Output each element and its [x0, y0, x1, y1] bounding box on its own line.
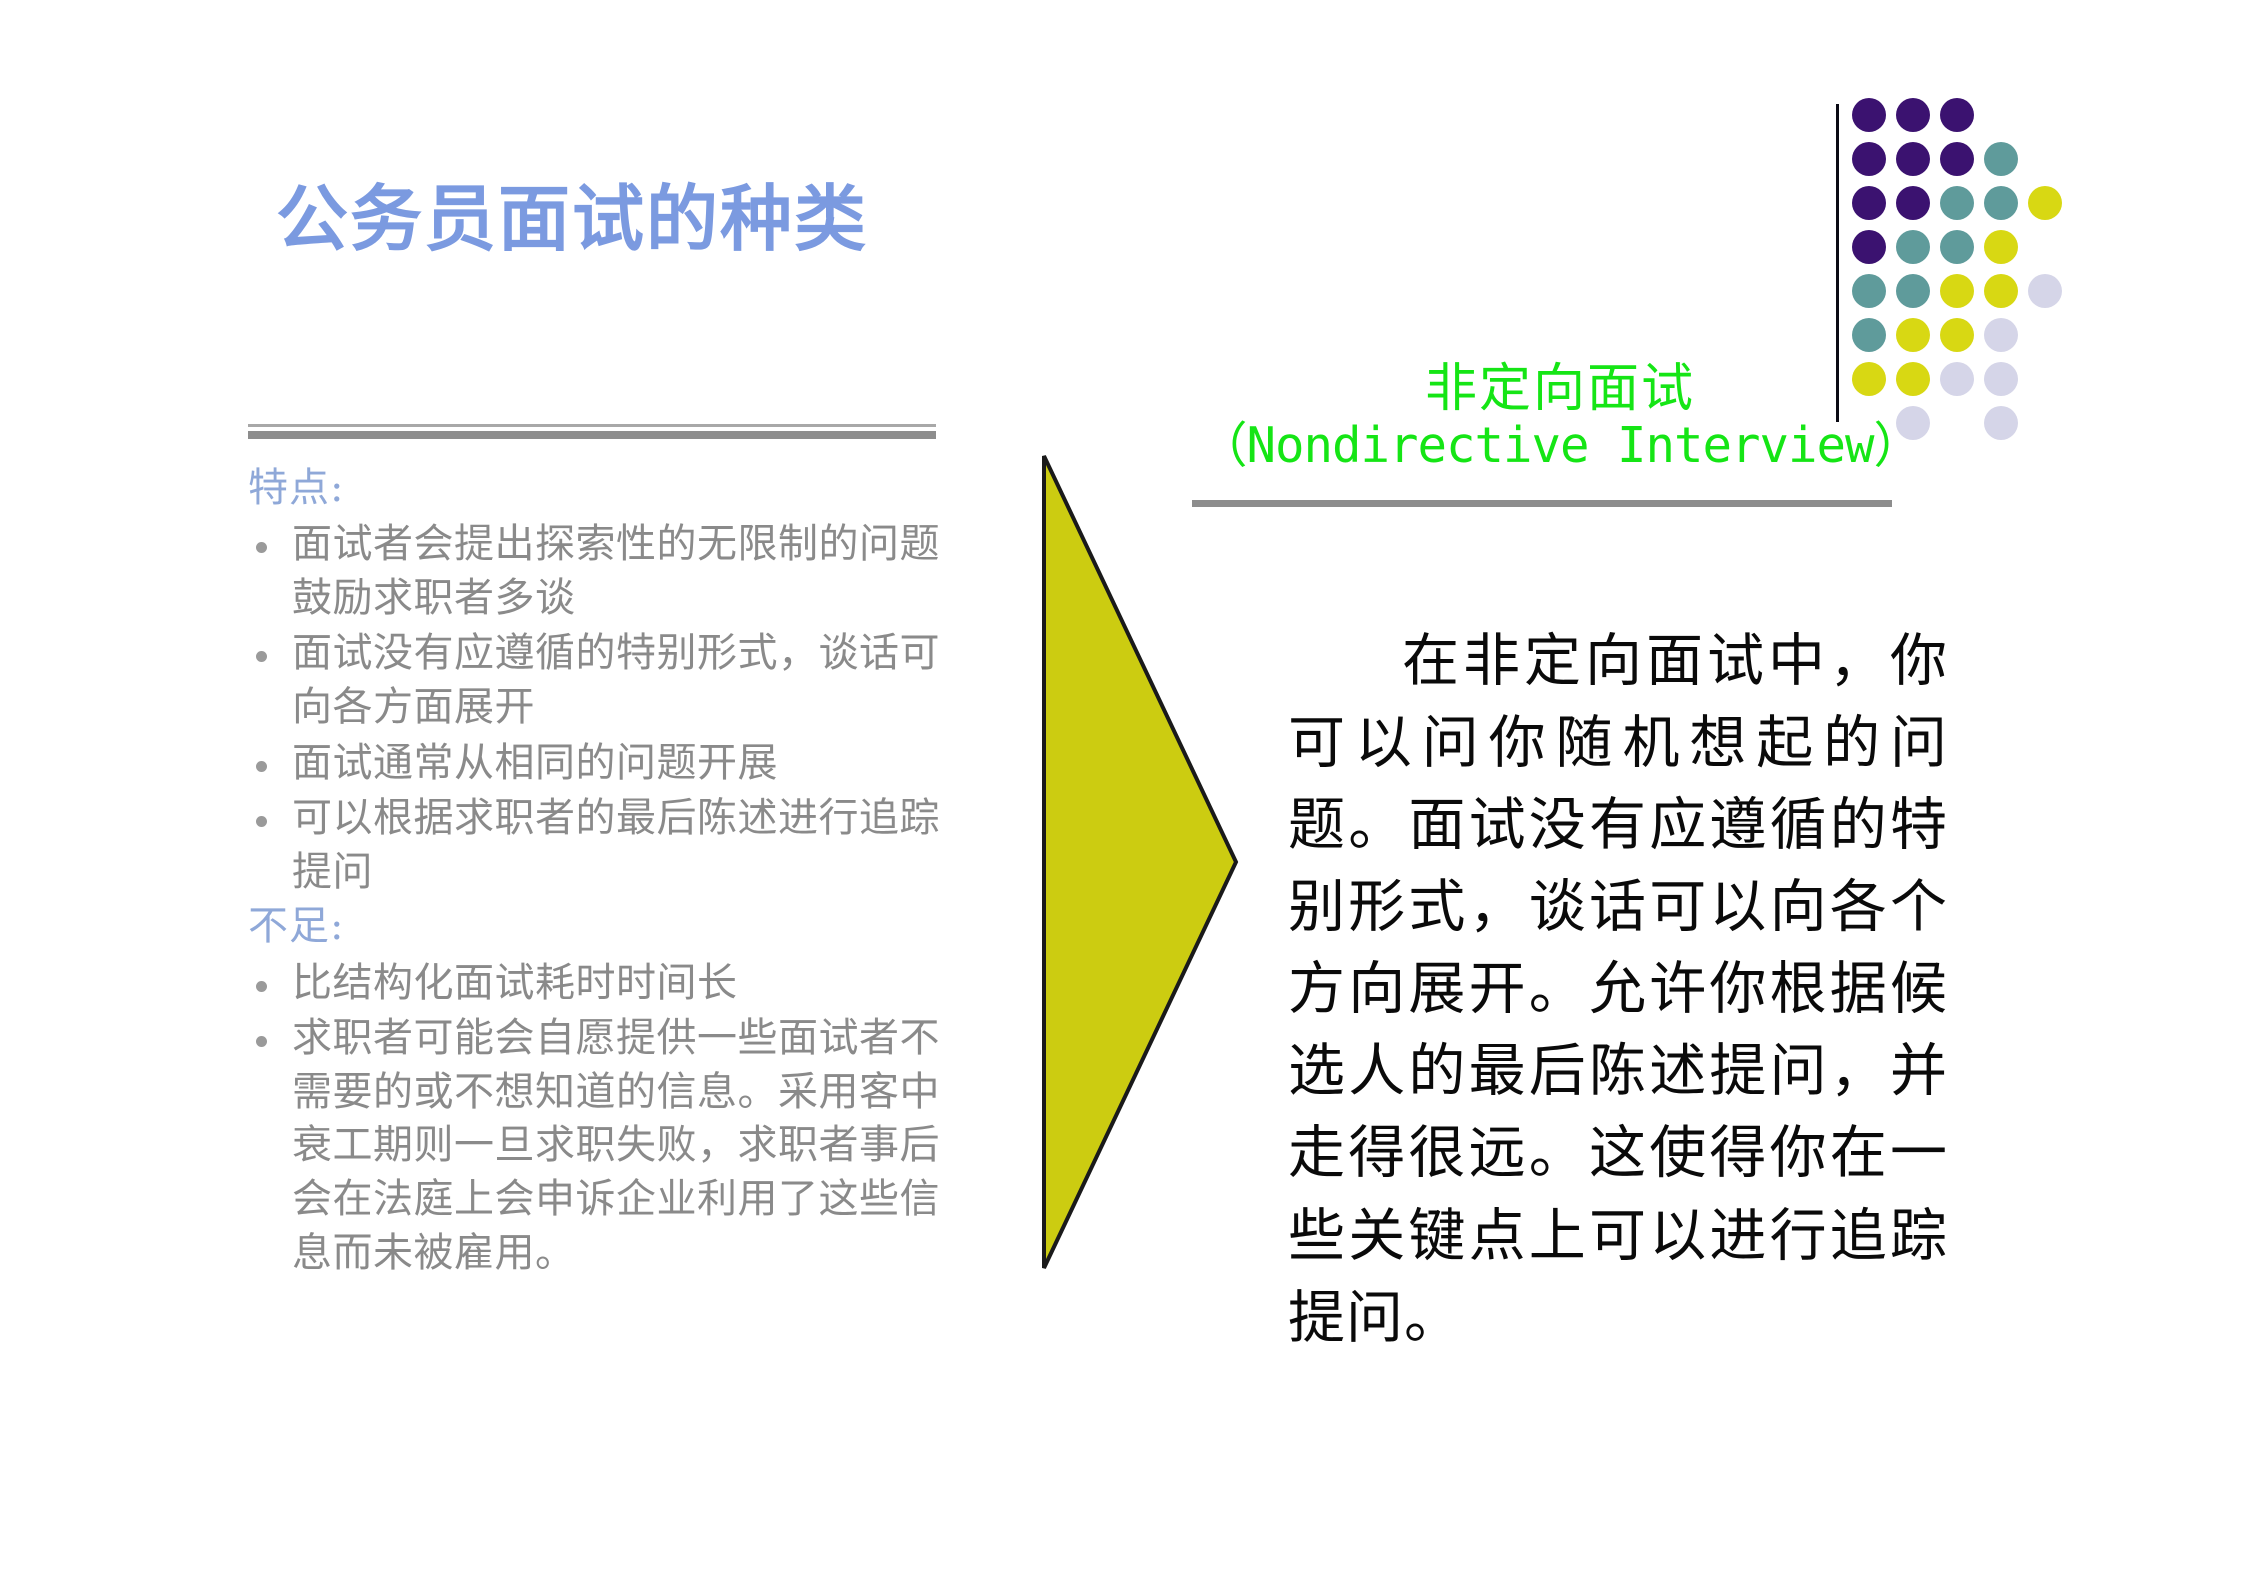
right-heading-block: 非定向面试 （Nondirective Interview） — [1165, 360, 1955, 475]
dot-purple — [1852, 230, 1886, 264]
dot-empty — [2028, 230, 2062, 264]
dot-empty — [2028, 142, 2062, 176]
list-item: 面试者会提出探索性的无限制的问题鼓励求职者多谈 — [248, 518, 968, 625]
right-body-paragraph: 在非定向面试中，你可以问你随机想起的问题。面试没有应遵循的特别形式，谈话可以向各… — [1288, 620, 1948, 1359]
left-content-column: 特点: 面试者会提出探索性的无限制的问题鼓励求职者多谈 面试没有应遵循的特别形式… — [248, 424, 968, 1282]
dot-teal — [1852, 318, 1886, 352]
dot-lavender — [1984, 406, 2018, 440]
dot-yellow — [1940, 274, 1974, 308]
right-heading-english: （Nondirective Interview） — [1165, 418, 1955, 475]
drawbacks-heading: 不足: — [248, 903, 968, 950]
features-heading: 特点: — [248, 465, 968, 512]
dot-yellow — [1940, 318, 1974, 352]
dot-purple — [1896, 186, 1930, 220]
dot-lavender — [1984, 318, 2018, 352]
list-item: 比结构化面试耗时时间长 — [248, 957, 968, 1011]
dot-teal — [1852, 274, 1886, 308]
dot-teal — [1896, 230, 1930, 264]
dot-matrix-row — [1852, 318, 2072, 362]
dot-empty — [2028, 318, 2062, 352]
dot-teal — [1896, 274, 1930, 308]
features-list: 面试者会提出探索性的无限制的问题鼓励求职者多谈 面试没有应遵循的特别形式，谈话可… — [248, 518, 968, 899]
dot-matrix-row — [1852, 98, 2072, 142]
dot-empty — [2028, 98, 2062, 132]
dot-yellow — [1984, 230, 2018, 264]
dot-matrix-row — [1852, 274, 2072, 318]
page-title: 公务员面试的种类 — [276, 160, 868, 265]
dot-teal — [1984, 186, 2018, 220]
dot-purple — [1896, 142, 1930, 176]
right-heading-underline — [1192, 500, 1892, 507]
dot-empty — [2028, 362, 2062, 396]
drawbacks-list: 比结构化面试耗时时间长 求职者可能会自愿提供一些面试者不需要的或不想知道的信息。… — [248, 957, 968, 1281]
dot-empty — [2028, 406, 2062, 440]
dot-matrix-row — [1852, 142, 2072, 186]
dot-purple — [1896, 98, 1930, 132]
slide-canvas: 公务员面试的种类 特点: 面试者会提出探索性的无限制的问题鼓励求职者多谈 面试没… — [0, 0, 2252, 1594]
list-item: 面试通常从相同的问题开展 — [248, 737, 968, 791]
dot-matrix-row — [1852, 186, 2072, 230]
dot-purple — [1852, 98, 1886, 132]
dot-purple — [1852, 186, 1886, 220]
right-heading-chinese: 非定向面试 — [1165, 360, 1955, 418]
dot-purple — [1940, 98, 1974, 132]
dot-lavender — [2028, 274, 2062, 308]
dot-purple — [1852, 142, 1886, 176]
dot-matrix-row — [1852, 230, 2072, 274]
right-arrow-shape — [1040, 452, 1240, 1272]
dot-teal — [1940, 230, 1974, 264]
list-item: 求职者可能会自愿提供一些面试者不需要的或不想知道的信息。采用客中衰工期则一旦求职… — [248, 1012, 968, 1280]
dot-purple — [1940, 142, 1974, 176]
dot-yellow — [1896, 318, 1930, 352]
list-item: 可以根据求职者的最后陈述进行追踪提问 — [248, 792, 968, 899]
dot-lavender — [1984, 362, 2018, 396]
dot-yellow — [2028, 186, 2062, 220]
dot-teal — [1984, 142, 2018, 176]
dot-teal — [1940, 186, 1974, 220]
dot-yellow — [1984, 274, 2018, 308]
section-divider-rule — [248, 424, 936, 439]
list-item: 面试没有应遵循的特别形式，谈话可向各方面展开 — [248, 627, 968, 734]
dot-empty — [1984, 98, 2018, 132]
